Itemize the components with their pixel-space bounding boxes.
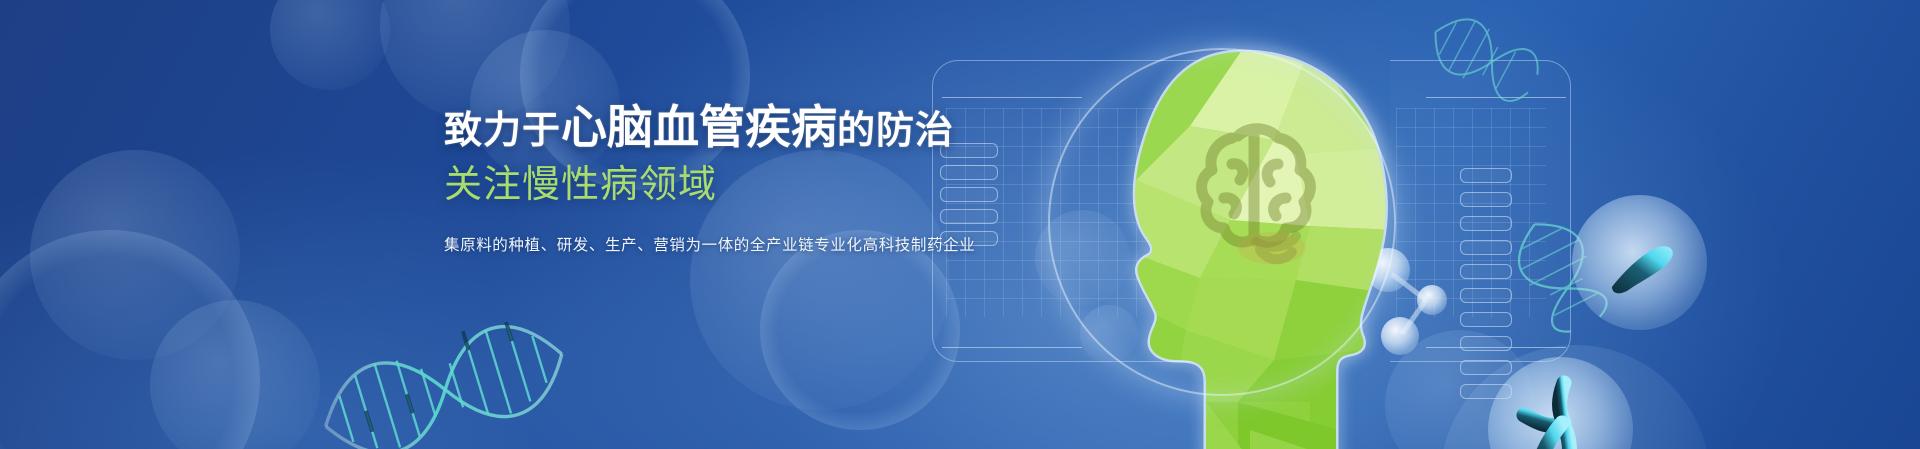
page-subtitle: 关注慢性病领域 xyxy=(444,166,1084,204)
bokeh-circle xyxy=(1440,345,1710,449)
bokeh-circle xyxy=(150,300,320,449)
chromosome-cell-bubble xyxy=(1488,357,1633,449)
bacteria-cell-bubble xyxy=(1572,195,1707,330)
head-glow-ring xyxy=(1048,48,1396,396)
hero-banner: 致力于心脑血管疾病的防治 关注慢性病领域 集原料的种植、研发、生产、营销为一体的… xyxy=(0,0,1920,449)
page-tagline: 集原料的种植、研发、生产、营销为一体的全产业链专业化高科技制药企业 xyxy=(444,238,1084,254)
hud-bar xyxy=(1460,216,1512,231)
chromosome-icon xyxy=(1488,357,1633,449)
bokeh-circle xyxy=(30,150,240,360)
hud-bar xyxy=(1460,192,1512,207)
headline-suffix: 的防治 xyxy=(837,110,954,152)
hud-bar xyxy=(1460,384,1512,399)
dna-small-right-icon xyxy=(1500,185,1620,360)
hud-tick xyxy=(942,347,1082,348)
banner-copy: 致力于心脑血管疾病的防治 关注慢性病领域 集原料的种植、研发、生产、营销为一体的… xyxy=(444,104,1084,254)
bokeh-circle xyxy=(270,0,390,90)
bokeh-circle xyxy=(0,230,260,449)
bokeh-circle xyxy=(380,0,570,120)
hud-tick xyxy=(1426,97,1566,98)
molecule-node-cluster-icon xyxy=(1348,238,1468,358)
bacteria-rod-icon xyxy=(1572,195,1707,330)
dna-right-icon xyxy=(1412,0,1542,114)
headline-emphasis: 心脑血管疾病 xyxy=(561,101,837,153)
hud-tick xyxy=(942,97,1082,98)
hud-bar xyxy=(1460,168,1512,183)
brain-icon xyxy=(1202,129,1311,242)
bokeh-circle xyxy=(760,230,960,430)
bokeh-circle xyxy=(1080,305,1138,363)
dna-left-icon xyxy=(280,300,570,449)
headline-prefix: 致力于 xyxy=(444,110,561,152)
hud-bar xyxy=(1460,360,1512,375)
page-title: 致力于心脑血管疾病的防治 xyxy=(444,104,1084,150)
